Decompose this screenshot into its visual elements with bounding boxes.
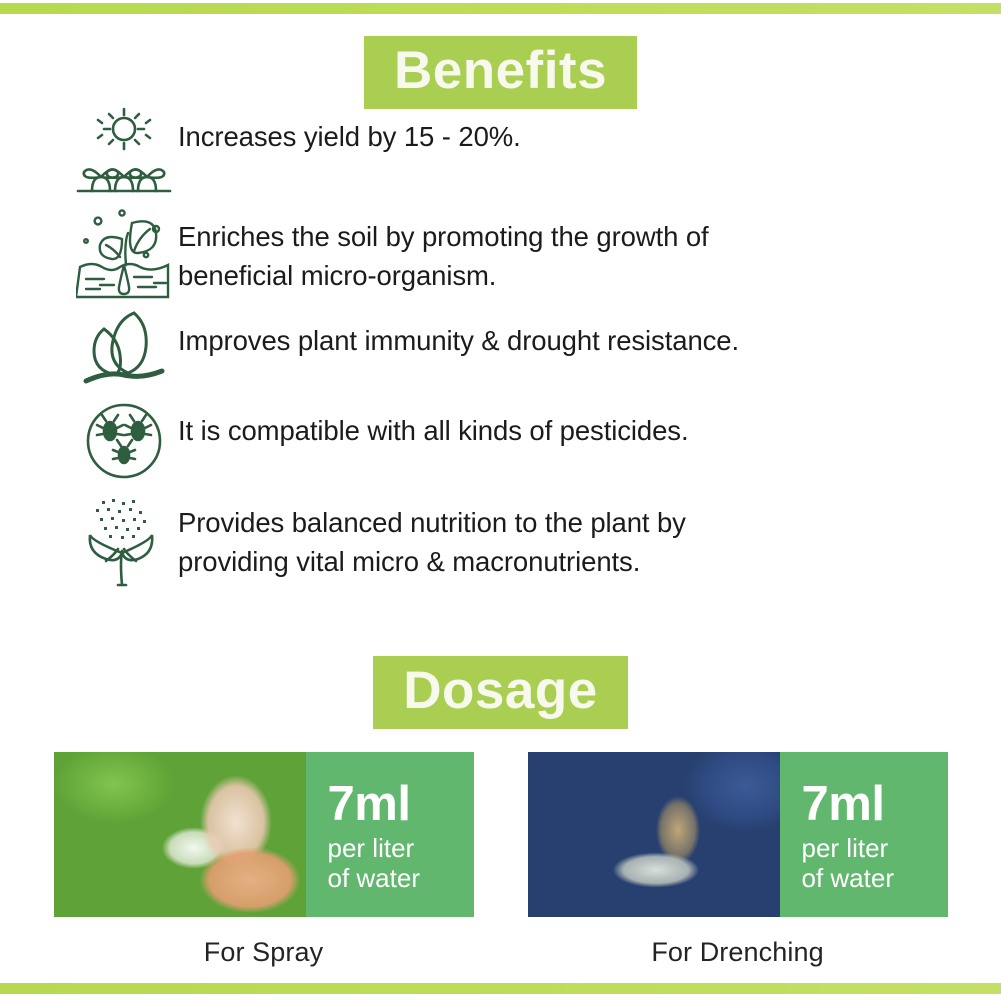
- benefit-item: It is compatible with all kinds of pesti…: [70, 399, 950, 483]
- dose-amount: 7ml: [802, 780, 948, 829]
- top-decorative-strip: [0, 3, 1001, 14]
- dose-panel: 7ml per liter of water: [306, 752, 474, 917]
- dose-sub: per liter of water: [328, 833, 474, 893]
- plant-in-soil-icon: [70, 205, 178, 301]
- benefits-heading: Benefits: [364, 36, 637, 109]
- benefit-item: Provides balanced nutrition to the plant…: [70, 491, 950, 591]
- dose-sub: per liter of water: [802, 833, 948, 893]
- dosage-card-inner: 7ml per liter of water: [528, 752, 948, 917]
- benefit-item: Improves plant immunity & drought resist…: [70, 309, 950, 391]
- benefit-text: Enriches the soil by promoting the growt…: [178, 205, 709, 295]
- benefit-item: Increases yield by 15 - 20%.: [70, 105, 950, 197]
- benefits-list: Increases yield by 15 - 20%.: [70, 105, 950, 599]
- benefit-text: It is compatible with all kinds of pesti…: [178, 399, 689, 450]
- benefit-text: Increases yield by 15 - 20%.: [178, 105, 521, 156]
- bottom-decorative-strip: [0, 983, 1001, 994]
- dosage-cards: 7ml per liter of water For Spray 7ml per…: [0, 752, 1001, 968]
- dose-panel: 7ml per liter of water: [780, 752, 948, 917]
- dose-caption: For Drenching: [528, 937, 948, 968]
- pests-in-circle-icon: [70, 399, 178, 483]
- sun-over-sprouts-icon: [70, 105, 178, 197]
- hand-spraying-plants-photo: [54, 752, 306, 917]
- benefit-item: Enriches the soil by promoting the growt…: [70, 205, 950, 301]
- dosage-card-inner: 7ml per liter of water: [54, 752, 474, 917]
- two-leaves-icon: [70, 309, 178, 391]
- benefit-text: Improves plant immunity & drought resist…: [178, 309, 739, 360]
- dosage-card-spray: 7ml per liter of water For Spray: [54, 752, 474, 968]
- dose-amount: 7ml: [328, 780, 474, 829]
- watering-can-drenching-soil-photo: [528, 752, 780, 917]
- sprout-with-nutrients-icon: [70, 491, 178, 591]
- dosage-heading: Dosage: [373, 656, 627, 729]
- dosage-card-drenching: 7ml per liter of water For Drenching: [528, 752, 948, 968]
- dose-caption: For Spray: [54, 937, 474, 968]
- benefits-heading-wrap: Benefits: [0, 36, 1001, 109]
- dosage-heading-wrap: Dosage: [0, 656, 1001, 729]
- benefit-text: Provides balanced nutrition to the plant…: [178, 491, 686, 581]
